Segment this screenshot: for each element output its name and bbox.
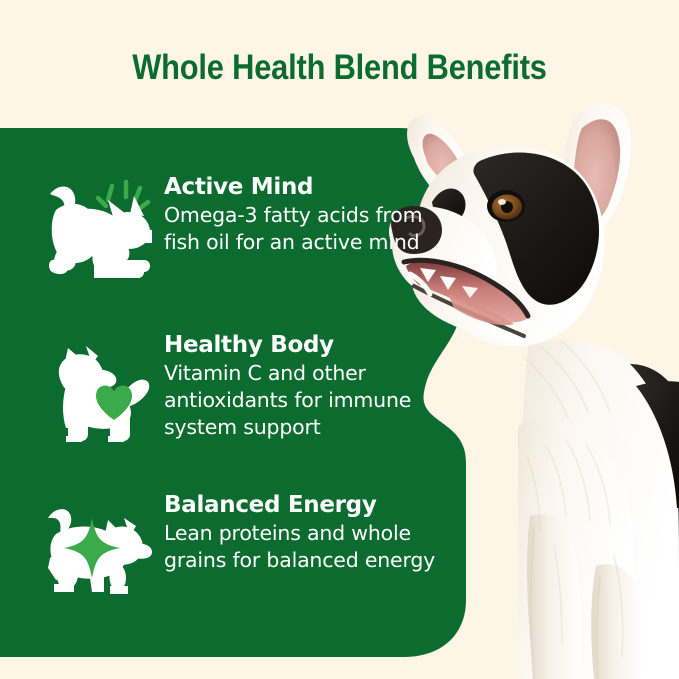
benefit-item-healthy-body: Healthy Body Vitamin C and other antioxi… [34,326,454,448]
benefit-heading: Balanced Energy [164,492,454,519]
dog-standing-heart-icon [34,330,152,448]
benefit-item-balanced-energy: Balanced Energy Lean proteins and whole … [34,486,454,608]
dog-running-star-icon [34,490,152,608]
benefit-description: Vitamin C and other antioxidants for imm… [164,360,454,441]
benefit-description: Omega-3 fatty acids from fish oil for an… [164,202,454,256]
benefit-text-block: Balanced Energy Lean proteins and whole … [164,486,454,574]
benefit-description: Lean proteins and whole grains for balan… [164,520,454,574]
benefit-heading: Healthy Body [164,332,454,359]
dog-play-bow-sparkle-icon [34,172,152,290]
benefit-item-active-mind: Active Mind Omega-3 fatty acids from fis… [34,168,454,290]
benefit-heading: Active Mind [164,174,454,201]
benefit-text-block: Active Mind Omega-3 fatty acids from fis… [164,168,454,256]
product-benefits-infographic: Whole Health Blend Benefits [0,0,679,679]
benefit-text-block: Healthy Body Vitamin C and other antioxi… [164,326,454,441]
